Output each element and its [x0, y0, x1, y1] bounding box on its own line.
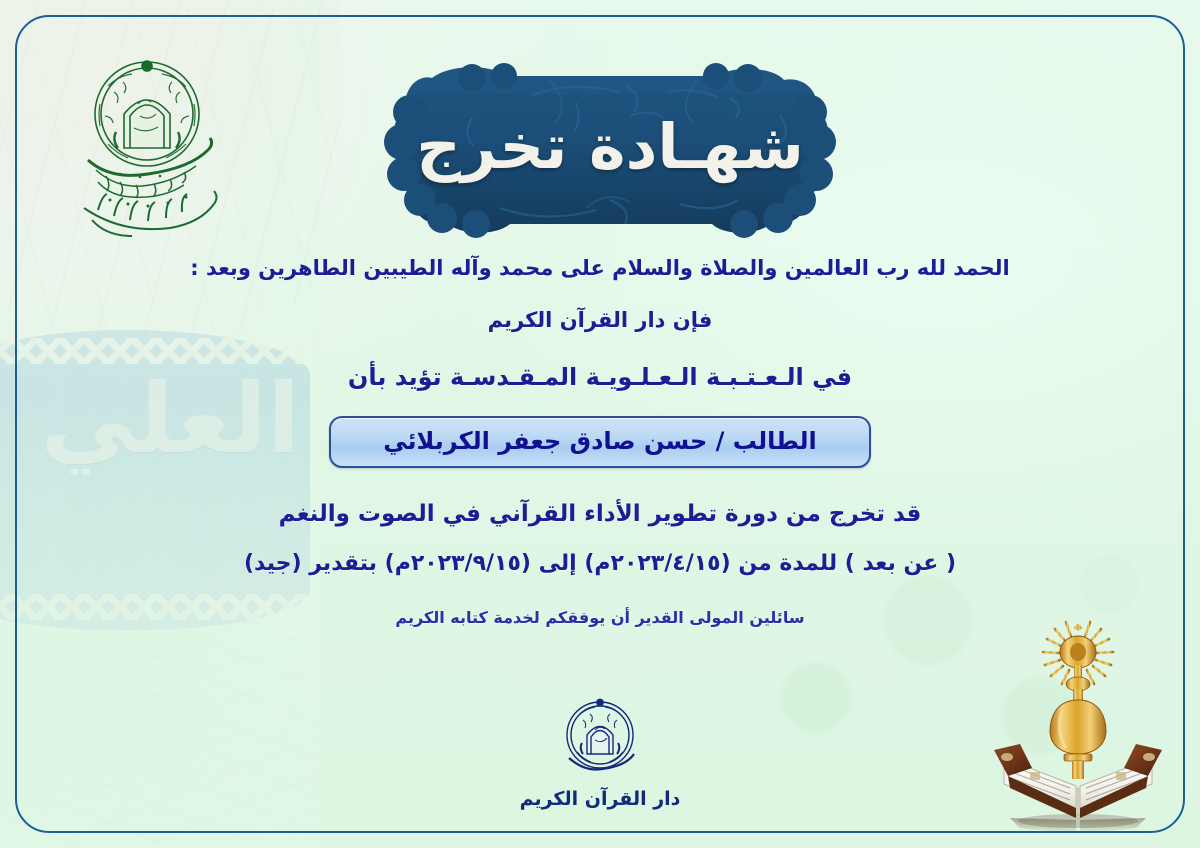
certificate-title-text: شهـادة تخرج [380, 58, 840, 240]
body-line-course: قد تخرج من دورة تطوير الأداء القرآني في … [0, 500, 1200, 529]
seal-caption-text: دار القرآن الكريم [520, 788, 681, 810]
student-name-plate-wrapper: الطالب / حسن صادق جعفر الكربلائي [0, 416, 1200, 468]
student-name-field[interactable]: الطالب / حسن صادق جعفر الكربلائي [329, 416, 871, 468]
body-line-shrine: في الـعـتـبـة الـعـلـويـة المـقـدسـة تؤي… [0, 362, 1200, 392]
body-line-praise: الحمد لله رب العالمين والصلاة والسلام عل… [0, 255, 1200, 281]
body-line-institution: فإن دار القرآن الكريم [0, 307, 1200, 333]
certificate-title-banner: شهـادة تخرج [380, 58, 840, 240]
certificate-body: الحمد لله رب العالمين والصلاة والسلام عل… [0, 255, 1200, 628]
seal-emblem-icon [559, 694, 641, 776]
body-line-dates-grade: ( عن بعد ) للمدة من (٢٠٢٣/٤/١٥م) إلى (٢٠… [0, 550, 1200, 578]
footer-seal: دار القرآن الكريم [0, 694, 1200, 810]
body-line-closing-prayer: سائلين المولى القدير أن يوفقكم لخدمة كتا… [0, 608, 1200, 628]
institution-emblem-icon [62, 52, 232, 237]
certificate-page: العلي الكبير [0, 0, 1200, 848]
